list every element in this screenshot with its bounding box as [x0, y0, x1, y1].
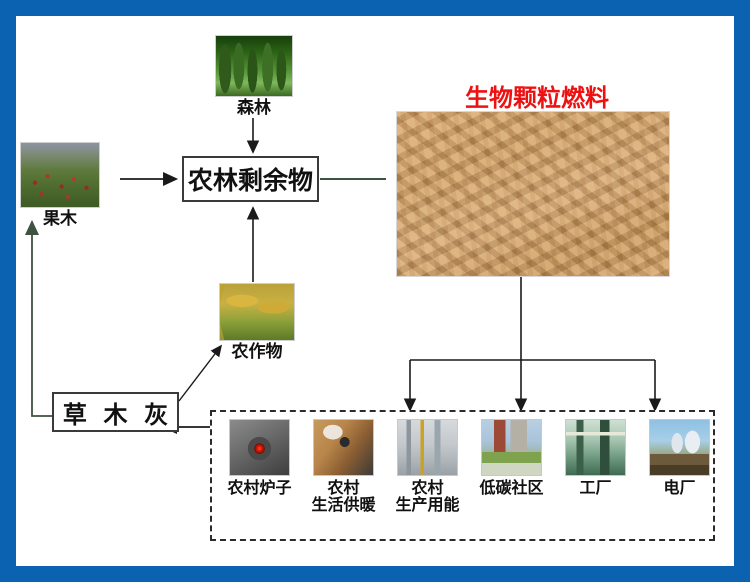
uses-item-label-0: 农村炉子 — [219, 480, 300, 497]
uses-item-label-4: 工厂 — [555, 480, 636, 497]
low-carbon-community-photo — [481, 419, 542, 476]
rural-heating-photo — [313, 419, 374, 476]
residue-box[interactable]: 农林剩余物 — [182, 156, 319, 202]
wood-pellets-photo — [396, 111, 670, 277]
diagram-canvas: 森林 果木 农林剩余物 农作物 草 木 灰 生物颗粒燃料 农村炉子 农村 生活供… — [16, 16, 734, 566]
uses-item-label-5: 电厂 — [639, 480, 720, 497]
rural-stove-photo — [229, 419, 290, 476]
fruit-tree-photo — [20, 142, 100, 208]
uses-item-label-3: 低碳社区 — [469, 480, 554, 497]
uses-item-label-2: 农村 生产用能 — [387, 480, 468, 515]
forest-label: 森林 — [215, 99, 293, 117]
factory-photo — [565, 419, 626, 476]
fruit-tree-label: 果木 — [20, 210, 100, 228]
power-plant-photo — [649, 419, 710, 476]
uses-item-label-1: 农村 生活供暖 — [303, 480, 384, 515]
ash-box-label: 草 木 灰 — [58, 395, 173, 430]
forest-photo — [215, 35, 293, 97]
pellet-title: 生物颗粒燃料 — [465, 78, 609, 113]
crops-label: 农作物 — [212, 343, 302, 361]
crops-photo — [219, 283, 295, 341]
ash-box[interactable]: 草 木 灰 — [52, 392, 179, 432]
residue-box-label: 农林剩余物 — [188, 161, 313, 197]
diagram-frame: 森林 果木 农林剩余物 农作物 草 木 灰 生物颗粒燃料 农村炉子 农村 生活供… — [0, 0, 750, 582]
rural-production-energy-photo — [397, 419, 458, 476]
arrow-ash-to-fruit — [32, 222, 52, 416]
